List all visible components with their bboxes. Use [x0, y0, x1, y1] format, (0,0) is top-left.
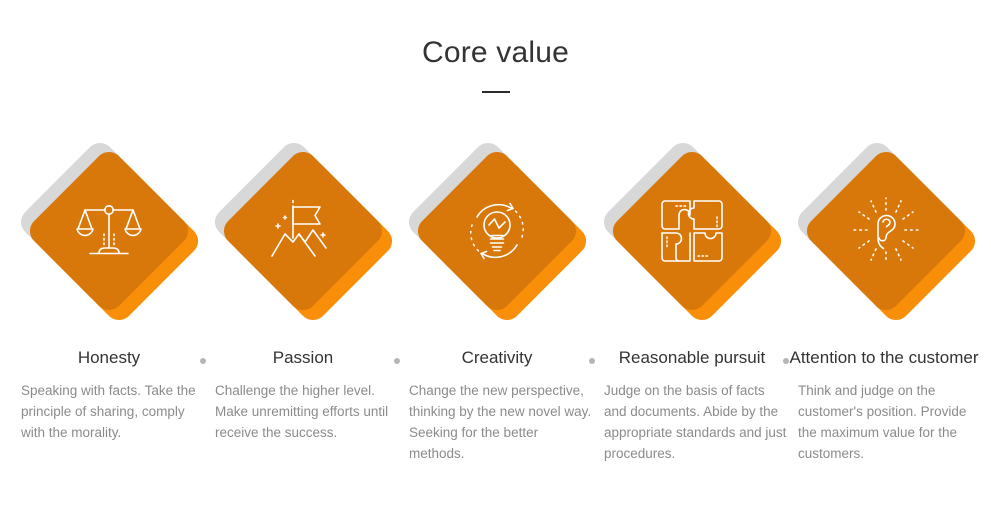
mountain-flag-icon: [243, 171, 363, 291]
value-description: Judge on the basis of facts and document…: [604, 381, 790, 465]
title-underline-rule: [482, 91, 510, 93]
diamond-badge: [595, 133, 789, 338]
value-description: Think and judge on the customer's positi…: [798, 381, 984, 465]
title-block: Core value: [0, 38, 991, 93]
diamond-badge: [789, 133, 983, 338]
value-heading: Creativity: [400, 348, 594, 368]
value-heading: Attention to the customer: [787, 348, 981, 368]
lightbulb-refresh-icon: [437, 171, 557, 291]
jigsaw-puzzle-icon: [632, 171, 752, 291]
value-card-creativity: Creativity Change the new perspective, t…: [400, 133, 594, 473]
value-card-honesty: Honesty Speaking with facts. Take the pr…: [12, 133, 206, 473]
connector-dot: [783, 358, 789, 364]
value-card-reasonable-pursuit: Reasonable pursuit Judge on the basis of…: [595, 133, 789, 473]
value-heading: Passion: [206, 348, 400, 368]
value-heading: Honesty: [12, 348, 206, 368]
connector-dot: [200, 358, 206, 364]
core-value-columns: Honesty Speaking with facts. Take the pr…: [0, 133, 991, 473]
value-card-attention-to-customer: Attention to the customer Think and judg…: [789, 133, 983, 473]
diamond-badge: [400, 133, 594, 338]
connector-dot: [589, 358, 595, 364]
value-description: Challenge the higher level. Make unremit…: [215, 381, 401, 444]
listening-ear-icon: [826, 171, 946, 291]
diamond-badge: [12, 133, 206, 338]
value-description: Change the new perspective, thinking by …: [409, 381, 595, 465]
value-description: Speaking with facts. Take the principle …: [21, 381, 207, 444]
connector-dot: [394, 358, 400, 364]
diamond-badge: [206, 133, 400, 338]
balance-scales-icon: [49, 171, 169, 291]
value-heading: Reasonable pursuit: [595, 348, 789, 368]
page-title: Core value: [0, 38, 991, 68]
value-card-passion: Passion Challenge the higher level. Make…: [206, 133, 400, 473]
